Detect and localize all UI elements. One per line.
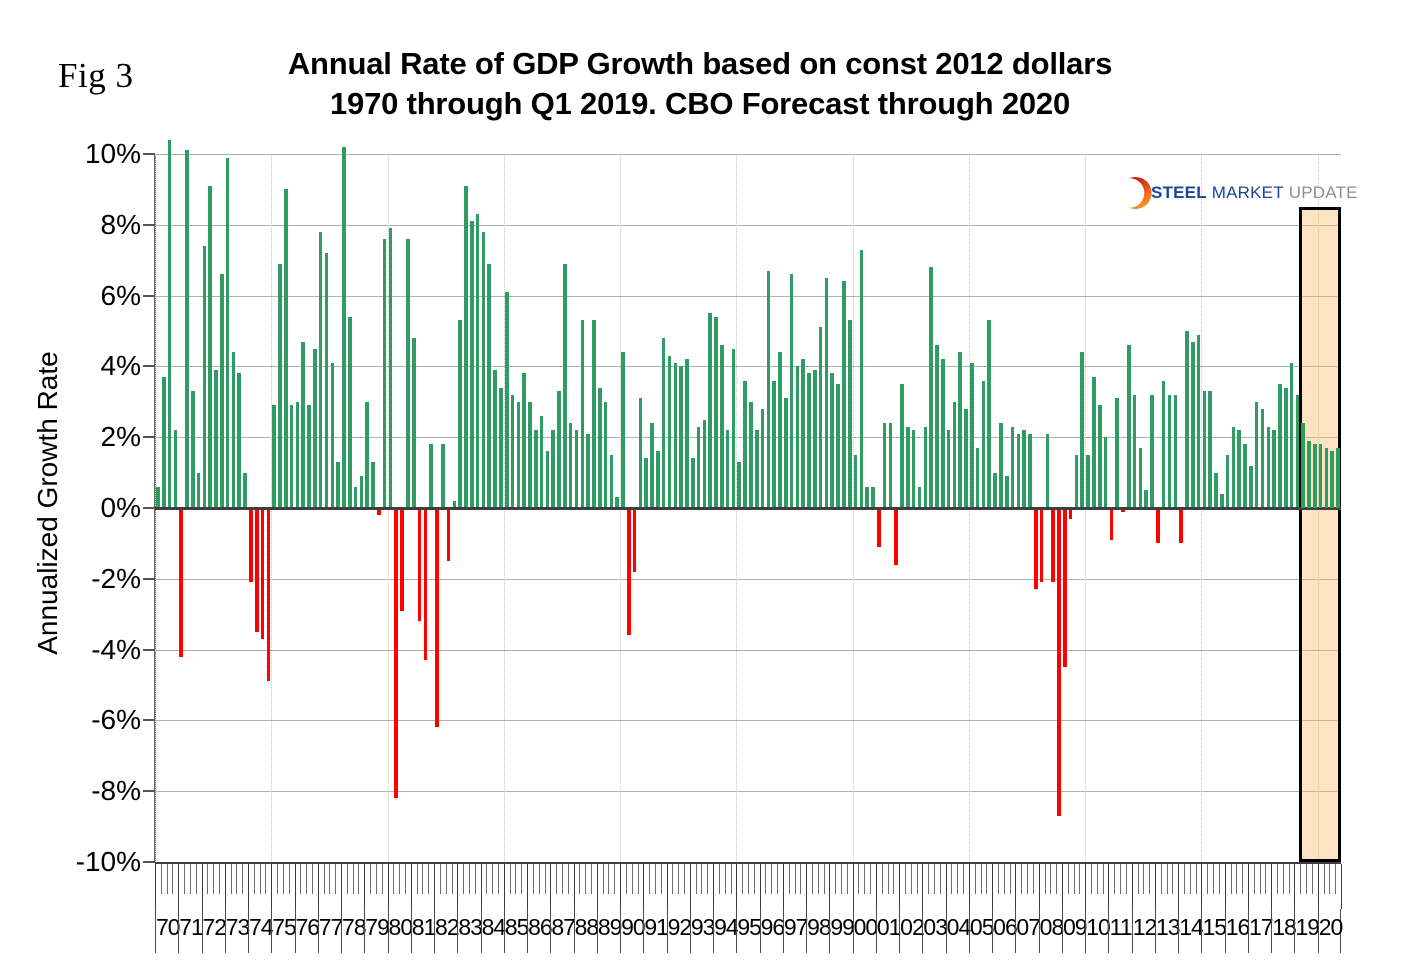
x-axis-quarter-tick xyxy=(405,864,406,894)
y-axis-tick-label: 8% xyxy=(101,209,141,241)
chart-bar xyxy=(168,140,172,508)
x-axis-year-tick xyxy=(1225,864,1226,909)
chart-bar xyxy=(697,427,701,508)
chart-bar xyxy=(918,487,922,508)
x-axis-quarter-tick xyxy=(1231,864,1232,894)
chart-bar xyxy=(644,458,648,508)
x-axis-year-label: 72 xyxy=(202,909,225,953)
x-axis-quarter-tick xyxy=(184,864,185,894)
x-axis-quarter-tick xyxy=(591,864,592,894)
x-axis-year-label: 87 xyxy=(550,909,573,953)
x-axis-quarter-tick xyxy=(812,864,813,894)
x-axis-quarter-tick xyxy=(719,864,720,894)
chart-bar xyxy=(767,271,771,508)
x-axis-year-label: 73 xyxy=(225,909,248,953)
x-axis-quarter-tick xyxy=(1289,864,1290,894)
x-axis-year-label: 19 xyxy=(1294,909,1317,953)
x-axis-year-tick xyxy=(643,864,644,909)
y-axis-tick-label: 4% xyxy=(101,350,141,382)
chart-title: Annual Rate of GDP Growth based on const… xyxy=(175,44,1225,125)
x-axis-year-tick xyxy=(922,864,923,909)
x-axis-quarter-tick xyxy=(963,864,964,894)
x-axis-quarter-tick xyxy=(1167,864,1168,894)
chart-bar xyxy=(1150,395,1154,508)
chart-bar xyxy=(331,363,335,508)
x-axis-quarter-tick xyxy=(312,864,313,894)
x-axis-year-label: 07 xyxy=(1015,909,1038,953)
chart-bar xyxy=(830,373,834,508)
x-axis-quarter-tick xyxy=(1033,864,1034,894)
chart-bar xyxy=(296,402,300,508)
x-axis-year-tick xyxy=(1039,864,1040,909)
x-axis-year-label: 05 xyxy=(969,909,992,953)
chart-bar xyxy=(627,508,631,635)
y-axis-tick-mark xyxy=(143,578,155,580)
x-axis-year-tick xyxy=(248,864,249,909)
x-axis-quarter-tick xyxy=(1324,864,1325,894)
x-axis-quarter-tick xyxy=(614,864,615,894)
y-axis-tick-mark xyxy=(143,224,155,226)
x-axis-quarter-tick xyxy=(207,864,208,894)
chart-bar xyxy=(1319,444,1323,508)
chart-bar xyxy=(278,264,282,508)
chart-bar xyxy=(418,508,422,621)
x-axis-year-tick xyxy=(341,864,342,909)
x-axis-year-label: 86 xyxy=(527,909,550,953)
y-axis-tick-mark xyxy=(143,295,155,297)
x-axis-quarter-tick xyxy=(562,864,563,894)
chart-bar xyxy=(633,508,637,572)
chart-bar xyxy=(865,487,869,508)
x-axis-year-label: 12 xyxy=(1132,909,1155,953)
x-axis-quarter-tick xyxy=(399,864,400,894)
x-axis-quarter-tick xyxy=(672,864,673,894)
x-axis-year-label: 15 xyxy=(1201,909,1224,953)
chart-bar xyxy=(162,377,166,508)
x-axis-quarter-tick xyxy=(858,864,859,894)
chart-bar xyxy=(487,264,491,508)
x-axis-year-tick xyxy=(1085,864,1086,909)
x-axis-year-label: 13 xyxy=(1155,909,1178,953)
x-axis-year-label: 78 xyxy=(341,909,364,953)
x-axis-year-label: 20 xyxy=(1318,909,1341,953)
x-axis-year-tick xyxy=(550,864,551,909)
x-axis-quarter-tick xyxy=(428,864,429,894)
x-axis-year-tick xyxy=(574,864,575,909)
x-axis-quarter-tick xyxy=(1277,864,1278,894)
chart-bar xyxy=(424,508,428,660)
gridline xyxy=(155,154,1341,155)
chart-bar xyxy=(953,402,957,508)
chart-bar xyxy=(987,320,991,508)
chart-bar xyxy=(522,373,526,508)
x-axis-quarter-tick xyxy=(928,864,929,894)
x-axis-year-label: 03 xyxy=(922,909,945,953)
x-axis-year-tick xyxy=(969,864,970,909)
x-axis-year-tick xyxy=(620,864,621,909)
chart-bar xyxy=(813,370,817,508)
chart-bar xyxy=(1307,441,1311,508)
x-axis-quarter-tick xyxy=(347,864,348,894)
x-axis-quarter-tick xyxy=(882,864,883,894)
chart-bar xyxy=(470,221,474,508)
chart-bar xyxy=(737,462,741,508)
x-axis-year-label: 77 xyxy=(318,909,341,953)
x-axis-quarter-tick xyxy=(277,864,278,894)
chart-bar xyxy=(1313,444,1317,508)
x-axis-year-label: 08 xyxy=(1039,909,1062,953)
x-axis-quarter-tick xyxy=(1219,864,1220,894)
x-axis-quarter-tick xyxy=(893,864,894,894)
chart-bar xyxy=(836,384,840,508)
x-axis-quarter-tick xyxy=(1184,864,1185,894)
x-axis-year-label: 96 xyxy=(760,909,783,953)
x-axis-quarter-tick xyxy=(725,864,726,894)
x-axis-quarter-tick xyxy=(1079,864,1080,894)
x-axis-quarter-tick xyxy=(236,864,237,894)
chart-bar xyxy=(360,476,364,508)
chart-bar xyxy=(749,402,753,508)
chart-bar xyxy=(1017,434,1021,508)
x-axis-quarter-tick xyxy=(417,864,418,894)
y-axis-tick-mark xyxy=(143,790,155,792)
x-axis-year-label: 76 xyxy=(295,909,318,953)
y-axis-tick-mark xyxy=(143,507,155,509)
y-axis-tick-label: -4% xyxy=(91,634,141,666)
x-axis-year-tick xyxy=(271,864,272,909)
chart-bar xyxy=(394,508,398,798)
chart-bar xyxy=(1185,331,1189,508)
x-axis-year-tick xyxy=(155,864,156,909)
chart-bar xyxy=(720,345,724,508)
chart-bar xyxy=(447,508,451,561)
chart-bar xyxy=(662,338,666,508)
x-axis-year-label: 88 xyxy=(574,909,597,953)
chart-bar xyxy=(1232,427,1236,508)
x-axis-quarter-tick xyxy=(1196,864,1197,894)
chart-bar xyxy=(650,423,654,508)
x-axis-quarter-tick xyxy=(329,864,330,894)
x-axis-quarter-tick xyxy=(731,864,732,894)
chart-bar xyxy=(598,388,602,508)
x-axis-quarter-tick xyxy=(492,864,493,894)
x-axis-quarter-tick xyxy=(1190,864,1191,894)
chart-bar xyxy=(435,508,439,727)
chart-bar xyxy=(1255,402,1259,508)
chart-bar xyxy=(993,473,997,508)
x-axis-quarter-tick xyxy=(1126,864,1127,894)
chart-bar xyxy=(505,292,509,508)
x-axis-year-tick xyxy=(597,864,598,909)
x-axis-quarter-tick xyxy=(324,864,325,894)
chart-bar xyxy=(464,186,468,508)
y-axis-tick-label: -2% xyxy=(91,563,141,595)
x-axis-quarter-tick xyxy=(847,864,848,894)
x-axis-quarter-tick xyxy=(1312,864,1313,894)
x-axis-quarter-tick xyxy=(655,864,656,894)
chart-bar xyxy=(964,409,968,508)
x-axis-quarter-tick xyxy=(649,864,650,894)
x-axis-quarter-tick xyxy=(1097,864,1098,894)
x-axis-quarter-tick xyxy=(289,864,290,894)
chart-bar xyxy=(1203,391,1207,508)
x-axis-quarter-tick xyxy=(370,864,371,894)
chart-bar xyxy=(389,228,393,508)
chart-bar xyxy=(1110,508,1114,540)
x-axis-year-tick xyxy=(690,864,691,909)
x-axis-quarter-tick xyxy=(1236,864,1237,894)
x-axis-quarter-tick xyxy=(585,864,586,894)
x-axis-quarter-tick xyxy=(1335,864,1336,894)
x-axis-year-tick xyxy=(527,864,528,909)
x-axis-quarter-tick xyxy=(835,864,836,894)
x-axis-year-label: 91 xyxy=(643,909,666,953)
logo-word-market: MARKET xyxy=(1212,183,1284,202)
chart-bar xyxy=(1057,508,1061,816)
chart-bar xyxy=(1086,455,1090,508)
x-axis-quarter-tick xyxy=(870,864,871,894)
x-axis-year-tick xyxy=(1132,864,1133,909)
x-axis-quarter-tick xyxy=(463,864,464,894)
y-axis-tick-mark xyxy=(143,719,155,721)
x-axis-year-tick xyxy=(992,864,993,909)
x-axis-year-label: 92 xyxy=(667,909,690,953)
x-axis-quarter-tick xyxy=(678,864,679,894)
x-axis-quarter-tick xyxy=(638,864,639,894)
chart-bar xyxy=(255,508,259,632)
x-axis-quarter-tick xyxy=(1300,864,1301,894)
x-axis-quarter-tick xyxy=(841,864,842,894)
x-axis-quarter-tick xyxy=(475,864,476,894)
chart-bar xyxy=(592,320,596,508)
x-axis-year-label: 80 xyxy=(388,909,411,953)
chart-bar xyxy=(1104,437,1108,508)
x-axis-quarter-tick xyxy=(393,864,394,894)
chart-bar xyxy=(214,370,218,508)
x-axis-quarter-tick xyxy=(742,864,743,894)
chart-bar xyxy=(1208,391,1212,508)
chart-bar xyxy=(383,239,387,508)
x-axis-tick-band xyxy=(155,862,1341,909)
x-axis-quarter-tick xyxy=(975,864,976,894)
x-axis-year-label: 18 xyxy=(1271,909,1294,953)
x-axis-quarter-tick xyxy=(283,864,284,894)
x-axis-quarter-tick xyxy=(1114,864,1115,894)
x-axis-quarter-tick xyxy=(1074,864,1075,894)
x-axis-quarter-tick xyxy=(376,864,377,894)
chart-bar xyxy=(1162,381,1166,508)
chart-bar xyxy=(476,214,480,508)
chart-bar xyxy=(1197,335,1201,508)
x-axis-quarter-tick xyxy=(172,864,173,894)
chart-bar xyxy=(743,381,747,508)
chart-bar xyxy=(1011,427,1015,508)
x-axis-quarter-tick xyxy=(800,864,801,894)
chart-bar xyxy=(1168,395,1172,508)
chart-bar xyxy=(586,434,590,508)
x-axis-quarter-tick xyxy=(1143,864,1144,894)
x-axis-quarter-tick xyxy=(219,864,220,894)
x-axis-quarter-tick xyxy=(934,864,935,894)
chart-bar xyxy=(761,409,765,508)
x-axis-quarter-tick xyxy=(556,864,557,894)
chart-bar xyxy=(220,274,224,508)
chart-bar xyxy=(540,416,544,508)
chart-bar xyxy=(546,451,550,508)
chart-bar xyxy=(929,267,933,508)
chart-bar xyxy=(970,363,974,508)
y-axis-tick-label: 10% xyxy=(85,138,141,170)
x-axis-quarter-tick xyxy=(1103,864,1104,894)
chart-bar xyxy=(807,373,811,508)
chart-bar xyxy=(1075,455,1079,508)
chart-bar xyxy=(1261,409,1265,508)
x-axis-year-tick xyxy=(225,864,226,909)
chart-bar xyxy=(877,508,881,547)
x-axis-quarter-tick xyxy=(701,864,702,894)
x-axis-quarter-tick xyxy=(911,864,912,894)
x-axis-year-label: 06 xyxy=(992,909,1015,953)
x-axis-quarter-tick xyxy=(1265,864,1266,894)
chart-bar xyxy=(935,345,939,508)
x-axis-quarter-tick xyxy=(1260,864,1261,894)
x-axis-quarter-tick xyxy=(754,864,755,894)
x-axis-year-tick xyxy=(1155,864,1156,909)
x-axis-quarter-tick xyxy=(917,864,918,894)
chart-bar xyxy=(581,320,585,508)
x-axis-quarter-tick xyxy=(469,864,470,894)
chart-bar xyxy=(307,405,311,508)
chart-bar xyxy=(191,391,195,508)
x-axis-year-tick xyxy=(1178,864,1179,909)
x-axis-quarter-tick xyxy=(510,864,511,894)
x-axis-year-label: 99 xyxy=(829,909,852,953)
chart-bar xyxy=(924,427,928,508)
x-axis-quarter-tick xyxy=(1045,864,1046,894)
x-axis-year-tick xyxy=(829,864,830,909)
chart-bar xyxy=(726,430,730,508)
chart-bar xyxy=(1272,430,1276,508)
x-axis-year-label: 94 xyxy=(713,909,736,953)
chart-bar xyxy=(1098,405,1102,508)
x-axis-year-label: 95 xyxy=(736,909,759,953)
x-axis-year-tick xyxy=(1062,864,1063,909)
x-axis-quarter-tick xyxy=(382,864,383,894)
chart-bar xyxy=(947,430,951,508)
chart-bar xyxy=(1296,395,1300,508)
x-axis-year-label: 89 xyxy=(597,909,620,953)
y-axis-tick-label: -10% xyxy=(76,846,141,878)
chart-bar xyxy=(517,402,521,508)
chart-bar xyxy=(819,327,823,508)
y-axis-tick-mark xyxy=(143,861,155,863)
x-axis-quarter-tick xyxy=(446,864,447,894)
chart-title-line-1: Annual Rate of GDP Growth based on const… xyxy=(175,44,1225,84)
x-axis-quarter-tick xyxy=(213,864,214,894)
x-axis-year-label: 10 xyxy=(1085,909,1108,953)
x-axis-quarter-tick xyxy=(1056,864,1057,894)
chart-bar xyxy=(778,352,782,508)
x-axis-quarter-tick xyxy=(1242,864,1243,894)
chart-bar xyxy=(348,317,352,508)
x-axis-quarter-tick xyxy=(626,864,627,894)
x-axis-quarter-tick xyxy=(1004,864,1005,894)
chart-bar xyxy=(267,508,271,681)
chart-bar xyxy=(714,317,718,508)
x-axis-year-tick xyxy=(1341,864,1342,909)
x-axis-quarter-tick xyxy=(1254,864,1255,894)
x-axis-quarter-tick xyxy=(818,864,819,894)
x-axis-year-label: 14 xyxy=(1178,909,1201,953)
x-axis-year-tick xyxy=(434,864,435,909)
chart-bar xyxy=(1267,427,1271,508)
chart-bar xyxy=(243,473,247,508)
y-axis-tick-mark xyxy=(143,153,155,155)
chart-bar xyxy=(354,487,358,508)
x-axis-year-tick xyxy=(457,864,458,909)
x-axis-quarter-tick xyxy=(888,864,889,894)
chart-bar xyxy=(290,405,294,508)
y-axis-title: Annualized Growth Rate xyxy=(32,223,64,783)
x-axis-year-tick xyxy=(876,864,877,909)
x-axis-year-label: 02 xyxy=(899,909,922,953)
chart-bar xyxy=(406,239,410,508)
x-axis-quarter-tick xyxy=(707,864,708,894)
x-axis-year-label: 98 xyxy=(806,909,829,953)
x-axis-year-tick xyxy=(1108,864,1109,909)
x-axis-quarter-tick xyxy=(1138,864,1139,894)
chart-bar xyxy=(958,352,962,508)
x-axis-year-label: 85 xyxy=(504,909,527,953)
gridline xyxy=(155,579,1341,580)
x-axis-quarter-tick xyxy=(1149,864,1150,894)
x-axis-quarter-tick xyxy=(1213,864,1214,894)
chart-bar xyxy=(528,402,532,508)
chart-bar xyxy=(1243,444,1247,508)
chart-bar xyxy=(604,402,608,508)
chart-bar xyxy=(499,388,503,508)
chart-bar xyxy=(871,487,875,508)
gridline xyxy=(155,791,1341,792)
chart-bar xyxy=(1005,476,1009,508)
logo-text: STEEL MARKET UPDATE xyxy=(1151,183,1358,203)
chart-bar xyxy=(575,430,579,508)
x-axis-quarter-tick xyxy=(254,864,255,894)
x-axis-quarter-tick xyxy=(1207,864,1208,894)
x-axis-year-tick xyxy=(783,864,784,909)
x-axis-quarter-tick xyxy=(452,864,453,894)
x-axis-quarter-tick xyxy=(545,864,546,894)
gridline xyxy=(155,296,1341,297)
x-axis-quarter-tick xyxy=(684,864,685,894)
x-axis-quarter-tick xyxy=(1120,864,1121,894)
chart-bar xyxy=(982,381,986,508)
x-axis-quarter-tick xyxy=(521,864,522,894)
x-axis-quarter-tick xyxy=(486,864,487,894)
chart-bar xyxy=(365,402,369,508)
x-axis-quarter-tick xyxy=(231,864,232,894)
chart-bar xyxy=(801,359,805,508)
chart-bar xyxy=(1133,395,1137,508)
chart-bar xyxy=(1220,494,1224,508)
x-axis-year-tick xyxy=(713,864,714,909)
chart-bar xyxy=(1144,490,1148,508)
chart-bar xyxy=(511,395,515,508)
x-axis-quarter-tick xyxy=(998,864,999,894)
x-axis-quarter-tick xyxy=(1172,864,1173,894)
x-axis-quarter-tick xyxy=(824,864,825,894)
x-axis-year-tick xyxy=(1201,864,1202,909)
